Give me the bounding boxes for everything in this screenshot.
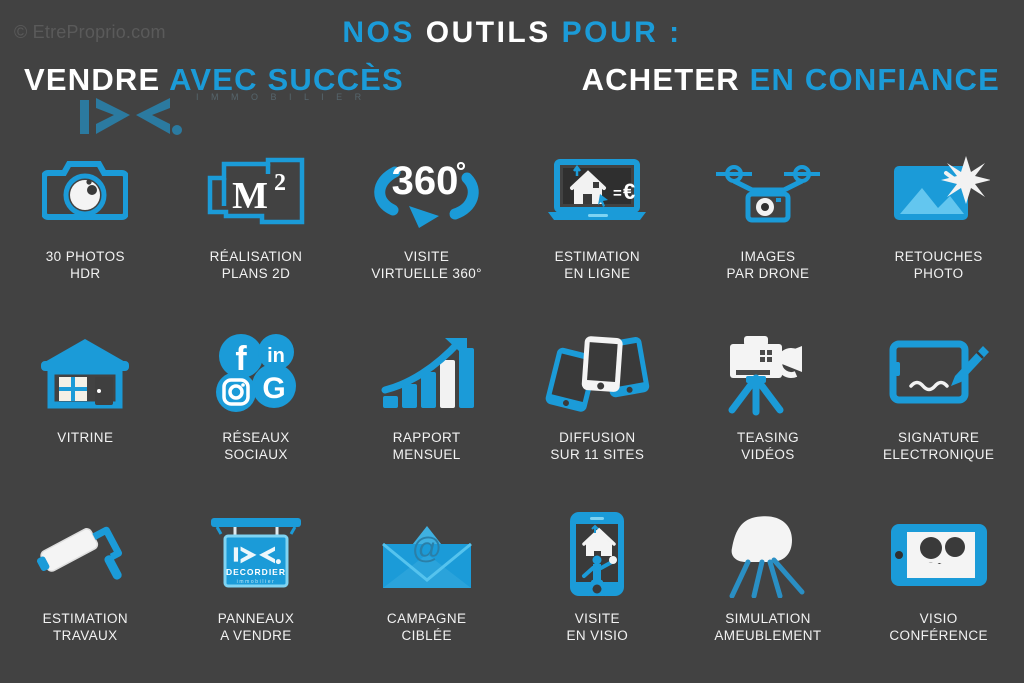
tablet-people-icon xyxy=(879,508,999,600)
tool-cell-estimation-en-ligne[interactable]: = € ESTIMATION EN LIGNE xyxy=(512,140,683,321)
360-number: 360 xyxy=(391,159,458,203)
tool-cell-360[interactable]: 360 ° VISITE VIRTUELLE 360° xyxy=(341,140,512,321)
google-glyph: G xyxy=(262,372,285,405)
tool-cell-rapport-mensuel[interactable]: RAPPORT MENSUEL xyxy=(341,321,512,502)
tool-cell-plans-2d[interactable]: M 2 RÉALISATION PLANS 2D xyxy=(171,140,342,321)
tablet-signature-icon xyxy=(879,327,999,419)
m2-letter: M xyxy=(232,175,268,217)
tool-label: CAMPAGNE CIBLÉE xyxy=(387,610,466,644)
title-part-pour: POUR : xyxy=(562,16,682,49)
heading-vendre-white: VENDRE xyxy=(24,62,160,97)
equals-symbol: = xyxy=(613,185,622,202)
tool-label: VISIO CONFÉRENCE xyxy=(889,610,988,644)
tool-cell-campagne-ciblee[interactable]: @ CAMPAGNE CIBLÉE xyxy=(341,502,512,683)
tool-cell-reseaux-sociaux[interactable]: f in G RÉSEAUX SOCIAUX xyxy=(171,321,342,502)
tool-label: VISITE VIRTUELLE 360° xyxy=(371,248,482,282)
sign-brand: DECORDIER xyxy=(226,567,286,577)
tool-label: SIGNATURE ELECTRONIQUE xyxy=(883,429,994,463)
facebook-glyph: f xyxy=(235,340,247,378)
tool-cell-photos-hdr[interactable]: 30 PHOTOS HDR xyxy=(0,140,171,321)
tool-cell-diffusion[interactable]: DIFFUSION SUR 11 SITES xyxy=(512,321,683,502)
chair-icon xyxy=(708,508,828,600)
hanging-sign-icon: DECORDIER immobilier xyxy=(196,508,316,600)
tool-label: IMAGES PAR DRONE xyxy=(727,248,810,282)
photo-retouch-icon xyxy=(879,146,999,238)
tool-cell-visio-conference[interactable]: VISIO CONFÉRENCE xyxy=(853,502,1024,683)
tool-label: ESTIMATION TRAVAUX xyxy=(43,610,129,644)
linkedin-glyph: in xyxy=(267,345,285,367)
m2-exponent: 2 xyxy=(274,170,286,196)
tool-cell-teasing-videos[interactable]: TEASING VIDÉOS xyxy=(683,321,854,502)
tool-label: ESTIMATION EN LIGNE xyxy=(555,248,641,282)
tool-label: RETOUCHES PHOTO xyxy=(895,248,983,282)
title-part-nos: NOS xyxy=(342,16,415,49)
page-title: NOS OUTILS POUR : xyxy=(0,16,1024,50)
tool-cell-panneaux[interactable]: DECORDIER immobilier PANNEAUX A VENDRE xyxy=(171,502,342,683)
360-degrees-icon: 360 ° xyxy=(367,146,487,238)
heading-acheter: ACHETER EN CONFIANCE xyxy=(582,62,1000,98)
phone-video-visit-icon xyxy=(537,508,657,600)
tool-label: PANNEAUX A VENDRE xyxy=(218,610,294,644)
drone-icon xyxy=(708,146,828,238)
euro-symbol: € xyxy=(623,179,635,204)
tool-label: DIFFUSION SUR 11 SITES xyxy=(550,429,644,463)
video-camera-tripod-icon xyxy=(708,327,828,419)
bar-chart-arrow-icon xyxy=(367,327,487,419)
tools-grid: 30 PHOTOS HDR M 2 RÉALISATION PLANS 2D 3… xyxy=(0,140,1024,683)
tool-label: TEASING VIDÉOS xyxy=(737,429,799,463)
camera-icon xyxy=(25,146,145,238)
tool-label: RAPPORT MENSUEL xyxy=(393,429,461,463)
tool-label: RÉSEAUX SOCIAUX xyxy=(222,429,289,463)
laptop-house-euro-icon: = € xyxy=(537,146,657,238)
envelope-at-icon: @ xyxy=(367,508,487,600)
title-part-outils: OUTILS xyxy=(426,16,551,49)
shop-window-icon xyxy=(25,327,145,419)
tool-cell-vitrine[interactable]: VITRINE xyxy=(0,321,171,502)
tool-label: VISITE EN VISIO xyxy=(566,610,628,644)
tool-cell-retouches[interactable]: RETOUCHES PHOTO xyxy=(853,140,1024,321)
logo-tagline: I M M O B I L I E R xyxy=(196,92,366,102)
tool-cell-signature[interactable]: SIGNATURE ELECTRONIQUE xyxy=(853,321,1024,502)
heading-acheter-white: ACHETER xyxy=(582,62,740,97)
tool-label: 30 PHOTOS HDR xyxy=(46,248,125,282)
social-networks-icon: f in G xyxy=(196,327,316,419)
tool-label: VITRINE xyxy=(57,429,113,446)
tool-label: RÉALISATION PLANS 2D xyxy=(210,248,303,282)
sign-sub: immobilier xyxy=(237,579,276,585)
degree-symbol: ° xyxy=(455,156,465,186)
heading-acheter-blue: EN CONFIANCE xyxy=(750,62,1000,97)
tool-cell-visite-visio[interactable]: VISITE EN VISIO xyxy=(512,502,683,683)
at-symbol: @ xyxy=(411,532,441,565)
tool-cell-estimation-travaux[interactable]: ESTIMATION TRAVAUX xyxy=(0,502,171,683)
floorplan-m2-icon: M 2 xyxy=(196,146,316,238)
tool-cell-drone[interactable]: IMAGES PAR DRONE xyxy=(683,140,854,321)
tool-cell-simulation-ameublement[interactable]: SIMULATION AMEUBLEMENT xyxy=(683,502,854,683)
paint-roller-icon xyxy=(25,508,145,600)
tablets-devices-icon xyxy=(537,327,657,419)
tool-label: SIMULATION AMEUBLEMENT xyxy=(714,610,821,644)
